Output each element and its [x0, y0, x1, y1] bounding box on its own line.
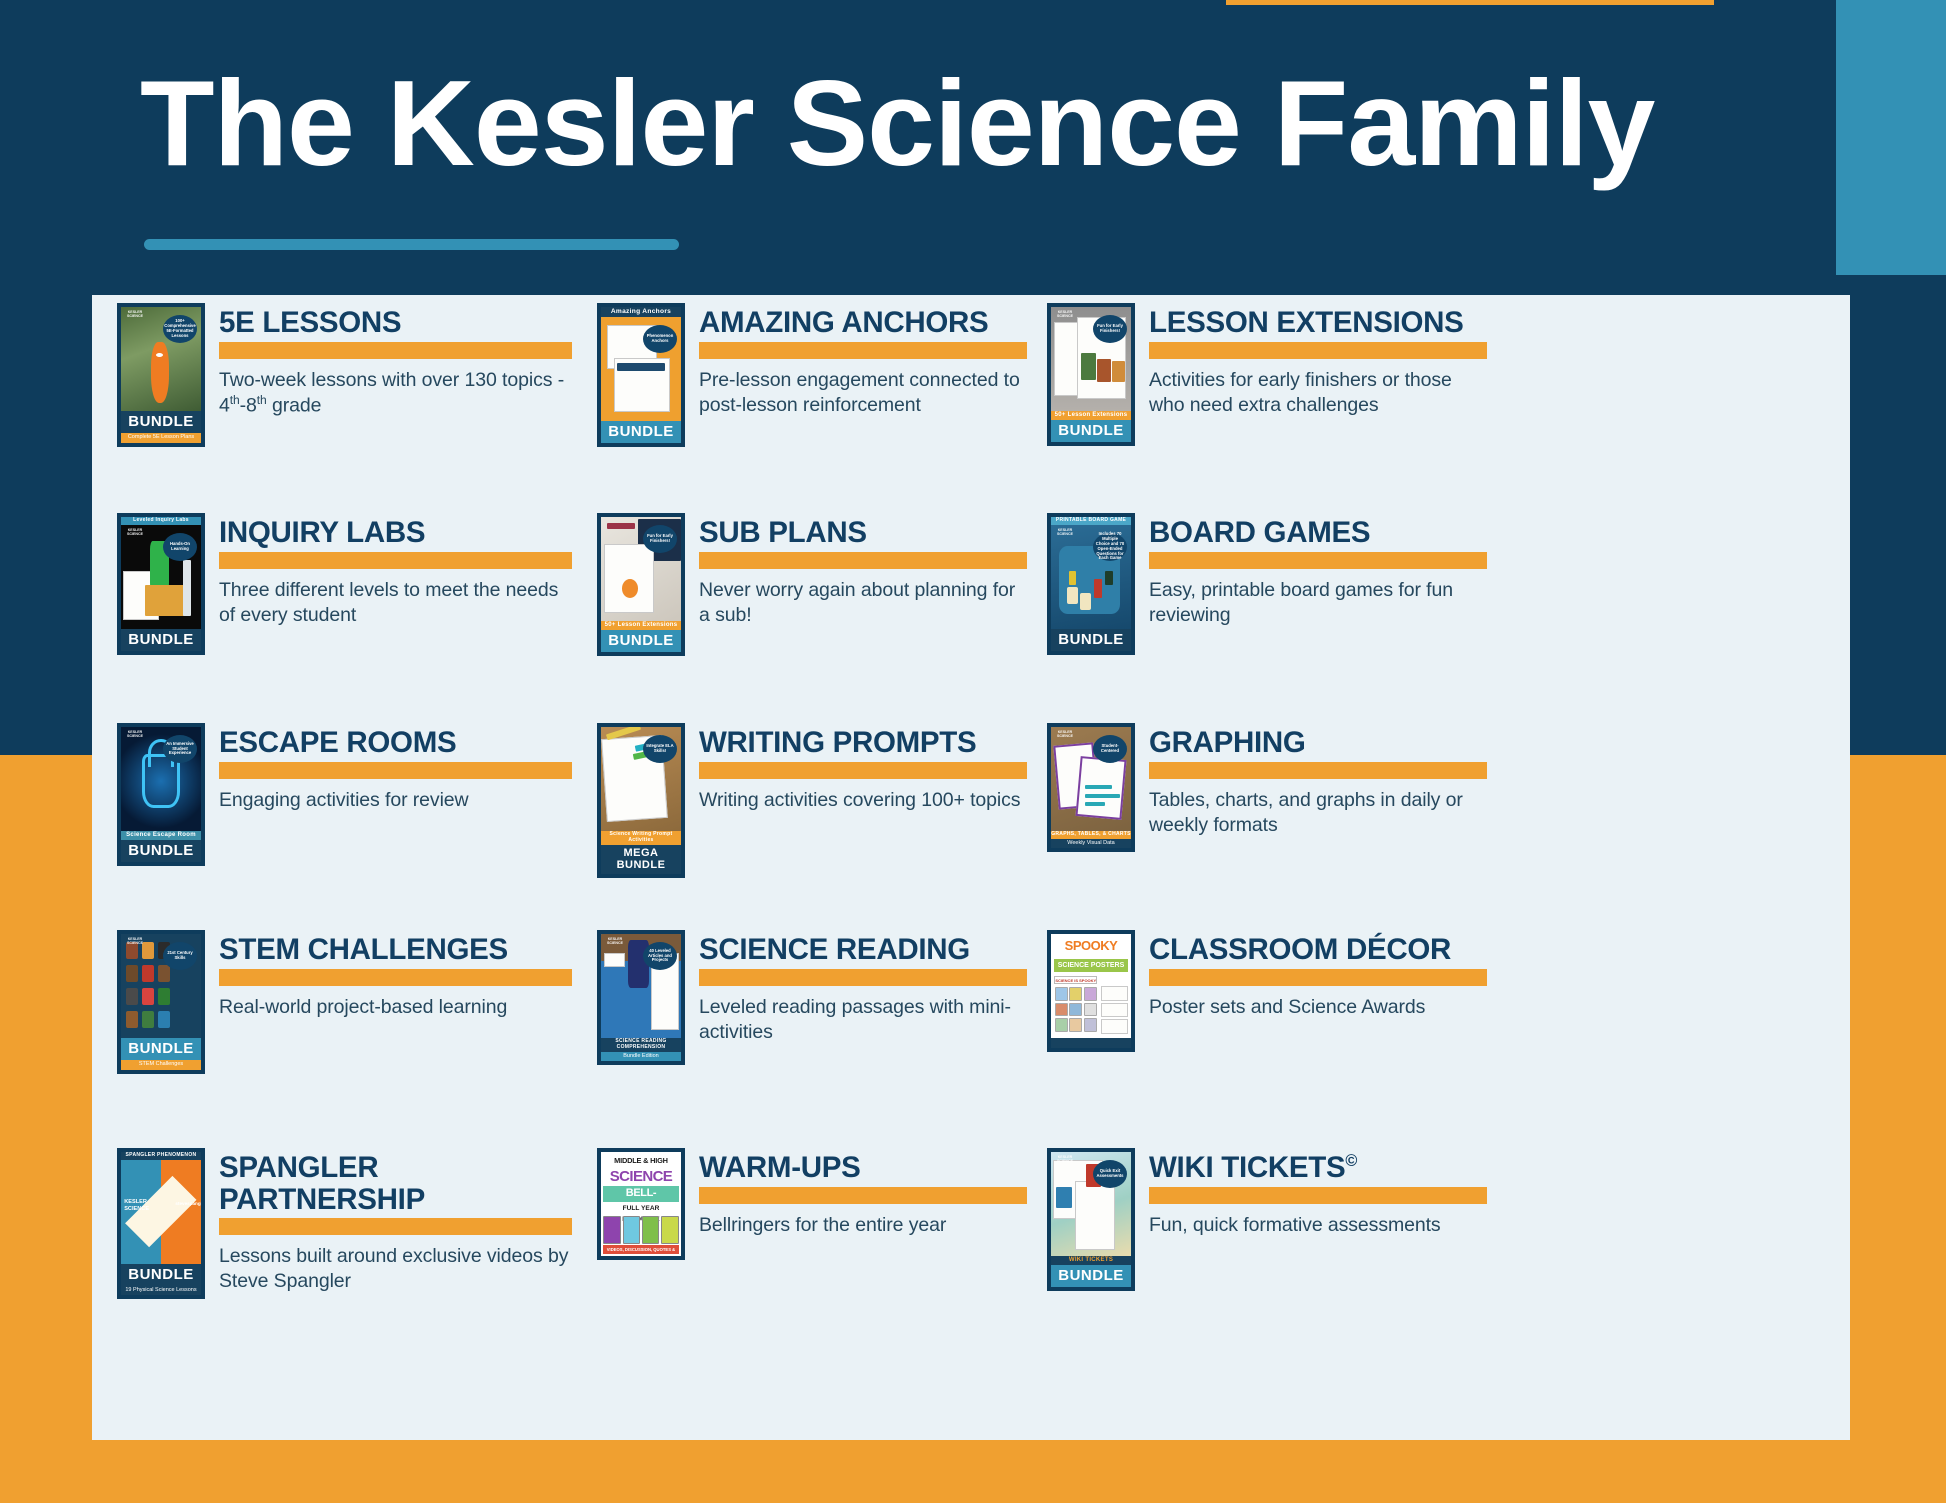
- card-text: BOARD GAMES Easy, printable board games …: [1149, 513, 1487, 655]
- product-description: Activities for early finishers or those …: [1149, 368, 1487, 418]
- thumbnail-wrapper[interactable]: SPANGLER PHENOMENON KESLERSCIENCE steves…: [117, 1148, 205, 1299]
- product-title: ESCAPE ROOMS: [219, 727, 572, 759]
- thumb-bundle-label: MEGA BUNDLE: [601, 845, 681, 874]
- product-card[interactable]: SPOOKY SCIENCE POSTERS SCIENCE IS SPOOKY…: [1047, 930, 1487, 1052]
- thumb-artwork: Fun for Early Finishers!: [601, 517, 681, 621]
- thumb-sub-label: Bundle Edition: [601, 1052, 681, 1062]
- product-thumbnail[interactable]: Student-Centered KESLERSCIENCE GRAPHS, T…: [1047, 723, 1135, 852]
- card-text: 5E LESSONS Two-week lessons with over 13…: [219, 303, 572, 447]
- thumb-badge: Fun for Early Finishers!: [1093, 315, 1127, 343]
- thumb-artwork: Student-Centered KESLERSCIENCE: [1051, 727, 1131, 831]
- title-accent-bar: [1149, 1187, 1487, 1204]
- kesler-science-logo: KESLERSCIENCE: [125, 938, 145, 948]
- kesler-science-logo: KESLERSCIENCE: [1055, 529, 1075, 539]
- thumb-artwork: SPOOKY SCIENCE POSTERS SCIENCE IS SPOOKY: [1051, 934, 1131, 1038]
- product-description: Real-world project-based learning: [219, 995, 572, 1020]
- card-text: STEM CHALLENGES Real-world project-based…: [219, 930, 572, 1074]
- product-thumbnail[interactable]: 21st Century Skills KESLERSCIENCE BUNDLE…: [117, 930, 205, 1074]
- title-accent-bar: [1149, 342, 1487, 359]
- card-text: SPANGLER PARTNERSHIP Lessons built aroun…: [219, 1148, 572, 1299]
- thumb-artwork: KESLERSCIENCE stevespangler: [121, 1160, 201, 1264]
- poster-title: SPOOKY: [1056, 938, 1126, 957]
- product-title: STEM CHALLENGES: [219, 934, 572, 966]
- kesler-science-logo: KESLERSCIENCE: [125, 529, 145, 539]
- thumb-bundle-label: BUNDLE: [1051, 420, 1131, 442]
- product-thumbnail[interactable]: Integrate ELA Skills! Science Writing Pr…: [597, 723, 685, 878]
- product-title: CLASSROOM DÉCOR: [1149, 934, 1487, 966]
- kesler-science-logo: KESLERSCIENCE: [1055, 311, 1075, 321]
- product-description: Bellringers for the entire year: [699, 1213, 1027, 1238]
- card-text: GRAPHING Tables, charts, and graphs in d…: [1149, 723, 1487, 852]
- thumb-artwork: Integrate ELA Skills!: [601, 727, 681, 831]
- thumb-sub-label: Weekly Visual Data: [1051, 839, 1131, 849]
- thumb-badge: 40 Leveled Articles and Projects: [643, 942, 677, 970]
- product-thumbnail[interactable]: SPANGLER PHENOMENON KESLERSCIENCE steves…: [117, 1148, 205, 1299]
- product-title: SCIENCE READING: [699, 934, 1027, 966]
- card-text: AMAZING ANCHORS Pre-lesson engagement co…: [699, 303, 1027, 447]
- thumb-top-caption: Leveled Inquiry Labs: [121, 517, 201, 525]
- accent-block-teal: [1836, 0, 1946, 275]
- thumb-badge: Student-Centered: [1093, 735, 1127, 763]
- card-text: LESSON EXTENSIONS Activities for early f…: [1149, 303, 1487, 446]
- product-thumbnail[interactable]: An Immersive Student Experience KESLERSC…: [117, 723, 205, 866]
- thumb-top-caption: PRINTABLE BOARD GAME: [1051, 517, 1131, 525]
- thumb-caption: WIKI TICKETS: [1051, 1256, 1131, 1265]
- title-accent-bar: [219, 1218, 572, 1235]
- product-description: Lessons built around exclusive videos by…: [219, 1244, 572, 1294]
- product-title: LESSON EXTENSIONS: [1149, 307, 1487, 339]
- thumb-artwork: Includes 70 Multiple Choice and 70 Open-…: [1051, 525, 1131, 629]
- product-description: Three different levels to meet the needs…: [219, 578, 572, 628]
- thumb-artwork: Quick Exit Assessments KESLERSCIENCE: [1051, 1152, 1131, 1256]
- products-panel: 100+ Comprehensive 5E-Formatted Lessons …: [92, 295, 1850, 1440]
- thumbnail-wrapper[interactable]: 21st Century Skills KESLERSCIENCE BUNDLE…: [117, 930, 205, 1074]
- thumbnail-wrapper[interactable]: Integrate ELA Skills! Science Writing Pr…: [597, 723, 685, 878]
- thumb-artwork: 40 Leveled Articles and Projects KESLERS…: [601, 934, 681, 1038]
- card-text: SCIENCE READING Leveled reading passages…: [699, 930, 1027, 1065]
- product-title: WRITING PROMPTS: [699, 727, 1027, 759]
- product-card[interactable]: Amazing Anchors Phenomenon Anchors BUNDL…: [597, 303, 1027, 447]
- product-card[interactable]: SPANGLER PHENOMENON KESLERSCIENCE steves…: [117, 1148, 572, 1299]
- title-accent-bar: [699, 969, 1027, 986]
- thumb-caption: SCIENCE READING COMPREHENSION: [601, 1038, 681, 1052]
- product-title: BOARD GAMES: [1149, 517, 1487, 549]
- thumbnail-wrapper[interactable]: PRINTABLE BOARD GAME Includes 70 Multipl…: [1047, 513, 1135, 655]
- product-thumbnail[interactable]: MIDDLE & HIGH SCIENCE BELL-RINGERS FULL …: [597, 1148, 685, 1260]
- product-card[interactable]: MIDDLE & HIGH SCIENCE BELL-RINGERS FULL …: [597, 1148, 1027, 1260]
- thumbnail-wrapper[interactable]: Student-Centered KESLERSCIENCE GRAPHS, T…: [1047, 723, 1135, 852]
- title-accent-bar: [699, 1187, 1027, 1204]
- thumb-badge: Quick Exit Assessments: [1093, 1160, 1127, 1188]
- card-text: CLASSROOM DÉCOR Poster sets and Science …: [1149, 930, 1487, 1052]
- thumb-bundle-label: BUNDLE: [601, 630, 681, 652]
- kesler-science-logo: KESLERSCIENCE: [1055, 1156, 1075, 1166]
- thumbnail-wrapper[interactable]: Leveled Inquiry Labs Hands-On Learning K…: [117, 513, 205, 655]
- card-text: WARM-UPS Bellringers for the entire year: [699, 1148, 1027, 1260]
- thumb-bundle-label: BUNDLE: [121, 1264, 201, 1286]
- title-underline: [144, 239, 679, 250]
- thumb-caption: 50+ Lesson Extensions: [601, 621, 681, 630]
- title-accent-bar: [1149, 552, 1487, 569]
- kesler-science-logo: KESLERSCIENCE: [125, 311, 145, 321]
- thumb-artwork: 21st Century Skills KESLERSCIENCE: [121, 934, 201, 1038]
- page-header: The Kesler Science Family: [0, 0, 1800, 300]
- thumb-bundle-label: BUNDLE: [1051, 629, 1131, 651]
- thumbnail-wrapper[interactable]: Fun for Early Finishers! 50+ Lesson Exte…: [597, 513, 685, 656]
- product-title: SPANGLER PARTNERSHIP: [219, 1152, 572, 1215]
- product-title: 5E LESSONS: [219, 307, 572, 339]
- product-description: Fun, quick formative assessments: [1149, 1213, 1487, 1238]
- product-card[interactable]: Student-Centered KESLERSCIENCE GRAPHS, T…: [1047, 723, 1487, 852]
- title-accent-bar: [219, 762, 572, 779]
- product-card[interactable]: An Immersive Student Experience KESLERSC…: [117, 723, 572, 866]
- card-text: WIKI TICKETS© Fun, quick formative asses…: [1149, 1148, 1487, 1291]
- thumb-badge: Includes 70 Multiple Choice and 70 Open-…: [1093, 533, 1127, 561]
- product-thumbnail[interactable]: 100+ Comprehensive 5E-Formatted Lessons …: [117, 303, 205, 447]
- products-grid: 100+ Comprehensive 5E-Formatted Lessons …: [92, 295, 1850, 1440]
- thumb-artwork: Fun for Early Finishers! KESLERSCIENCE: [1051, 307, 1131, 411]
- product-card[interactable]: 40 Leveled Articles and Projects KESLERS…: [597, 930, 1027, 1065]
- thumb-sub-label: [1051, 1038, 1131, 1048]
- title-accent-bar: [1149, 969, 1487, 986]
- kesler-science-logo: KESLERSCIENCE: [125, 731, 145, 741]
- title-accent-bar: [699, 342, 1027, 359]
- product-title: SUB PLANS: [699, 517, 1027, 549]
- product-description: Easy, printable board games for fun revi…: [1149, 578, 1487, 628]
- thumb-badge: Fun for Early Finishers!: [643, 525, 677, 553]
- title-accent-bar: [699, 762, 1027, 779]
- thumb-sub-label: Complete 5E Lesson Plans: [121, 433, 201, 443]
- title-accent-bar: [1149, 762, 1487, 779]
- thumb-caption: 50+ Lesson Extensions: [1051, 411, 1131, 420]
- thumb-sub-label: 19 Physical Science Lessons: [121, 1286, 201, 1296]
- product-thumbnail[interactable]: Fun for Early Finishers! 50+ Lesson Exte…: [597, 513, 685, 656]
- thumbnail-wrapper[interactable]: 40 Leveled Articles and Projects KESLERS…: [597, 930, 685, 1065]
- thumb-bundle-label: BUNDLE: [121, 629, 201, 651]
- title-accent-bar: [219, 969, 572, 986]
- thumbnail-wrapper[interactable]: Amazing Anchors Phenomenon Anchors BUNDL…: [597, 303, 685, 447]
- thumb-badge: 100+ Comprehensive 5E-Formatted Lessons: [163, 315, 197, 343]
- thumb-top-caption: Amazing Anchors: [601, 307, 681, 317]
- product-thumbnail[interactable]: PRINTABLE BOARD GAME Includes 70 Multipl…: [1047, 513, 1135, 655]
- thumb-badge: An Immersive Student Experience: [163, 735, 197, 763]
- product-description: Two-week lessons with over 130 topics - …: [219, 368, 572, 418]
- product-title: GRAPHING: [1149, 727, 1487, 759]
- product-description: Poster sets and Science Awards: [1149, 995, 1487, 1020]
- thumb-artwork: An Immersive Student Experience KESLERSC…: [121, 727, 201, 831]
- thumb-bundle-label: BUNDLE: [121, 1038, 201, 1060]
- card-text: ESCAPE ROOMS Engaging activities for rev…: [219, 723, 572, 866]
- product-title: WIKI TICKETS©: [1149, 1152, 1487, 1184]
- thumb-caption: Science Writing Prompt Activities: [601, 831, 681, 845]
- thumb-badge: Hands-On Learning: [163, 533, 197, 561]
- thumb-artwork: 100+ Comprehensive 5E-Formatted Lessons …: [121, 307, 201, 411]
- thumb-sub-label: STEM Challenges: [121, 1060, 201, 1070]
- thumb-bundle-label: BUNDLE: [601, 421, 681, 443]
- thumb-caption: GRAPHS, TABLES, & CHARTS: [1051, 831, 1131, 839]
- thumbnail-wrapper[interactable]: MIDDLE & HIGH SCIENCE BELL-RINGERS FULL …: [597, 1148, 685, 1260]
- thumb-top-caption: SPANGLER PHENOMENON: [121, 1152, 201, 1160]
- page-title: The Kesler Science Family: [140, 62, 1654, 184]
- thumbnail-wrapper[interactable]: 100+ Comprehensive 5E-Formatted Lessons …: [117, 303, 205, 447]
- product-description: Leveled reading passages with mini-activ…: [699, 995, 1027, 1045]
- product-thumbnail[interactable]: Amazing Anchors Phenomenon Anchors BUNDL…: [597, 303, 685, 447]
- card-text: WRITING PROMPTS Writing activities cover…: [699, 723, 1027, 878]
- product-title: INQUIRY LABS: [219, 517, 572, 549]
- thumb-bundle-label: BUNDLE: [121, 840, 201, 862]
- title-accent-bar: [219, 342, 572, 359]
- thumb-caption: Science Escape Room: [121, 831, 201, 840]
- product-description: Tables, charts, and graphs in daily or w…: [1149, 788, 1487, 838]
- product-card[interactable]: Fun for Early Finishers! 50+ Lesson Exte…: [597, 513, 1027, 656]
- product-thumbnail[interactable]: 40 Leveled Articles and Projects KESLERS…: [597, 930, 685, 1065]
- thumb-artwork: MIDDLE & HIGH SCIENCE BELL-RINGERS FULL …: [601, 1152, 681, 1256]
- thumb-artwork: Hands-On Learning KESLERSCIENCE: [121, 525, 201, 629]
- product-description: Engaging activities for review: [219, 788, 572, 813]
- product-description: Pre-lesson engagement connected to post-…: [699, 368, 1027, 418]
- thumb-badge: Phenomenon Anchors: [643, 325, 677, 353]
- product-card[interactable]: Fun for Early Finishers! KESLERSCIENCE 5…: [1047, 303, 1487, 446]
- card-text: INQUIRY LABS Three different levels to m…: [219, 513, 572, 655]
- product-description: Writing activities covering 100+ topics: [699, 788, 1027, 813]
- product-card[interactable]: PRINTABLE BOARD GAME Includes 70 Multipl…: [1047, 513, 1487, 655]
- product-thumbnail[interactable]: SPOOKY SCIENCE POSTERS SCIENCE IS SPOOKY: [1047, 930, 1135, 1052]
- title-accent-bar: [699, 552, 1027, 569]
- product-description: Never worry again about planning for a s…: [699, 578, 1027, 628]
- product-title: AMAZING ANCHORS: [699, 307, 1027, 339]
- product-card[interactable]: Integrate ELA Skills! Science Writing Pr…: [597, 723, 1027, 878]
- thumb-bundle-label: BUNDLE: [1051, 1265, 1131, 1287]
- kesler-science-logo: KESLERSCIENCE: [1055, 731, 1075, 741]
- product-card[interactable]: 21st Century Skills KESLERSCIENCE BUNDLE…: [117, 930, 572, 1074]
- kesler-science-logo: KESLERSCIENCE: [605, 938, 625, 948]
- thumbnail-wrapper[interactable]: Quick Exit Assessments KESLERSCIENCE WIK…: [1047, 1148, 1135, 1291]
- product-thumbnail[interactable]: Quick Exit Assessments KESLERSCIENCE WIK…: [1047, 1148, 1135, 1291]
- thumbnail-wrapper[interactable]: Fun for Early Finishers! KESLERSCIENCE 5…: [1047, 303, 1135, 446]
- thumb-bundle-label: BUNDLE: [121, 411, 201, 433]
- product-card[interactable]: Quick Exit Assessments KESLERSCIENCE WIK…: [1047, 1148, 1487, 1291]
- product-card[interactable]: Leveled Inquiry Labs Hands-On Learning K…: [117, 513, 572, 655]
- product-thumbnail[interactable]: Leveled Inquiry Labs Hands-On Learning K…: [117, 513, 205, 655]
- thumbnail-wrapper[interactable]: SPOOKY SCIENCE POSTERS SCIENCE IS SPOOKY: [1047, 930, 1135, 1052]
- thumbnail-wrapper[interactable]: An Immersive Student Experience KESLERSC…: [117, 723, 205, 866]
- title-accent-bar: [219, 552, 572, 569]
- product-card[interactable]: 100+ Comprehensive 5E-Formatted Lessons …: [117, 303, 572, 447]
- product-title: WARM-UPS: [699, 1152, 1027, 1184]
- card-text: SUB PLANS Never worry again about planni…: [699, 513, 1027, 656]
- thumb-artwork: Phenomenon Anchors: [601, 317, 681, 421]
- product-thumbnail[interactable]: Fun for Early Finishers! KESLERSCIENCE 5…: [1047, 303, 1135, 446]
- thumb-badge: 21st Century Skills: [163, 942, 197, 970]
- thumb-badge: Integrate ELA Skills!: [643, 735, 677, 763]
